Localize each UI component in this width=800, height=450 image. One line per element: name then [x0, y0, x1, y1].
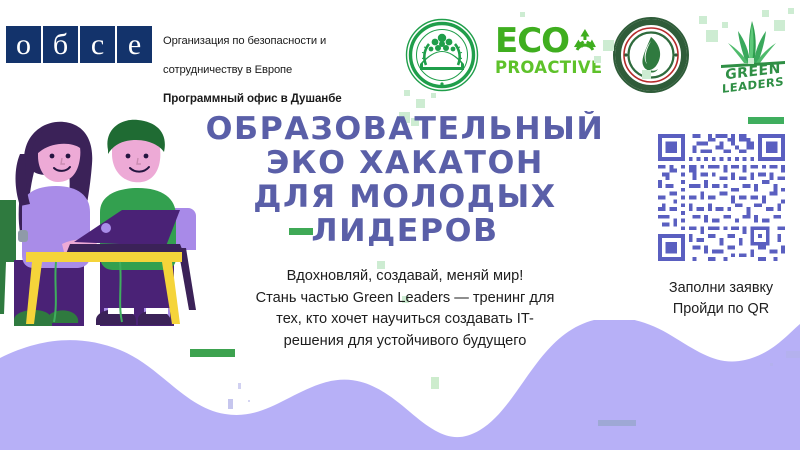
- committee-emblem-logo: [405, 18, 479, 92]
- osce-logo: о б с е Организация по безопасности и со…: [6, 26, 342, 121]
- osce-letter-e: е: [117, 26, 152, 63]
- eco-proactive-logo: ECO PROACTIVE: [495, 24, 600, 84]
- wave-pixel: [598, 420, 636, 426]
- students-laptop-illustration: [0, 112, 211, 344]
- green-seal-logo: [613, 17, 689, 93]
- osce-letter-marks: о б с е: [6, 26, 152, 63]
- title-line-2: ЭКО ХАКАТОН: [186, 146, 625, 180]
- poster-canvas: о б с е Организация по безопасности и со…: [0, 0, 800, 450]
- recycle-icon: [570, 26, 600, 56]
- header-pixel: [774, 20, 785, 31]
- partner-logos: ECO PROACTIVE: [395, 0, 800, 110]
- green-accent-bar-title: [289, 228, 313, 235]
- poster-title: ОБРАЗОВАТЕЛЬНЫЙ ЭКО ХАКАТОН ДЛЯ МОЛОДЫХ …: [186, 112, 625, 248]
- wave-pixel: [228, 399, 233, 409]
- subtitle-line-1: Вдохновляй, создавай, меняй мир!: [206, 266, 604, 288]
- center-pixel: [431, 377, 439, 389]
- osce-wordmark-text: Организация по безопасности и сотрудниче…: [163, 19, 342, 121]
- poster-subtitle: Вдохновляй, создавай, меняй мир! Стань ч…: [190, 266, 620, 352]
- green-accent-bar-qr: [748, 117, 784, 124]
- wave-pixel: [248, 400, 250, 402]
- subtitle-line-2: Стань частью Green Leaders — тренинг для: [206, 288, 604, 310]
- subtitle-line-4: решения для устойчивого будущего: [206, 331, 604, 353]
- title-line-4: ЛИДЕРОВ: [186, 214, 625, 248]
- osce-line-1: Организация по безопасности и: [163, 34, 342, 49]
- header-pixel: [642, 70, 651, 79]
- header-pixel: [594, 56, 601, 63]
- header-pixel: [603, 40, 614, 51]
- header-bar: о б с е Организация по безопасности и со…: [0, 0, 800, 110]
- qr-caption: Заполни заявку Пройди по QR: [651, 278, 791, 320]
- osce-line-3: Программный офис в Душанбе: [163, 92, 342, 107]
- header-pixel: [416, 99, 425, 108]
- header-pixel: [706, 30, 718, 42]
- header-pixel: [404, 90, 410, 96]
- proactive-word: PROACTIVE: [495, 59, 600, 77]
- header-pixel: [431, 93, 436, 98]
- qr-caption-line-2: Пройди по QR: [651, 299, 791, 320]
- wave-pixel: [238, 383, 241, 389]
- header-pixel: [762, 10, 769, 17]
- wave-pixel: [786, 351, 800, 358]
- main-content: ОБРАЗОВАТЕЛЬНЫЙ ЭКО ХАКАТОН ДЛЯ МОЛОДЫХ …: [190, 112, 620, 352]
- qr-code[interactable]: [658, 134, 785, 261]
- header-pixel: [788, 8, 794, 14]
- header-pixel: [520, 12, 525, 17]
- eco-word: ECO: [495, 24, 569, 58]
- eco-wordmark: ECO: [495, 24, 600, 58]
- header-pixel: [722, 22, 728, 28]
- subtitle-line-3: тех, кто хочет научиться создавать IT-: [206, 309, 604, 331]
- green-accent-bar-subtitle: [190, 349, 235, 357]
- header-pixel: [699, 16, 707, 24]
- title-line-3: ДЛЯ МОЛОДЫХ: [186, 180, 625, 214]
- osce-letter-s: с: [80, 26, 115, 63]
- qr-caption-line-1: Заполни заявку: [651, 278, 791, 299]
- header-pixel: [748, 58, 754, 64]
- osce-letter-b: б: [43, 26, 78, 63]
- osce-letter-o: о: [6, 26, 41, 63]
- wave-pixel: [770, 363, 773, 366]
- qr-block: Заполни заявку Пройди по QR: [651, 134, 791, 320]
- osce-line-2: сотрудничеству в Европе: [163, 63, 342, 78]
